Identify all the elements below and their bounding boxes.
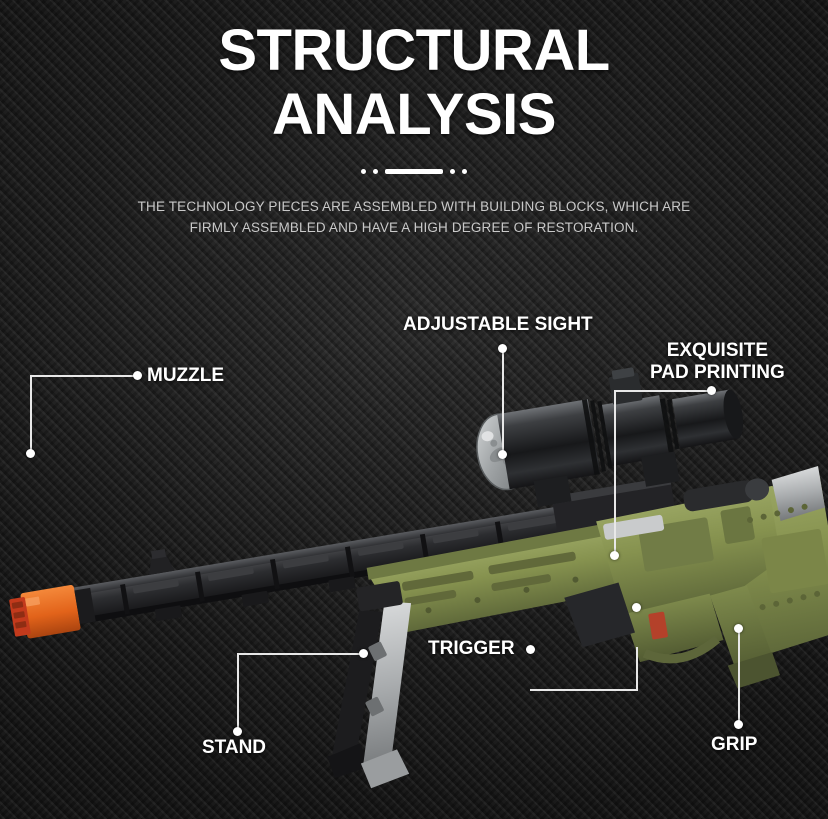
leader-node-pad-printing-label — [707, 386, 716, 395]
header-block: STRUCTURAL ANALYSIS THE TECHNOLOGY PIECE… — [0, 22, 828, 238]
leader-node-grip-label — [734, 720, 743, 729]
leader-node-trigger-target — [632, 603, 641, 612]
leader-node-stand-label — [233, 727, 242, 736]
leader-line-grip — [738, 628, 741, 724]
callout-label-adjustable-sight: ADJUSTABLE SIGHT — [403, 314, 593, 336]
divider-dot-left-outer — [361, 169, 366, 174]
callout-label-trigger: TRIGGER — [428, 638, 515, 660]
callout-label-stand: STAND — [202, 737, 266, 759]
callout-label-grip: GRIP — [711, 734, 757, 756]
leader-node-muzzle-target — [26, 449, 35, 458]
leader-node-stand-target — [359, 649, 368, 658]
subtitle-line-1: THE TECHNOLOGY PIECES ARE ASSEMBLED WITH… — [0, 196, 828, 217]
page-title-line-1: STRUCTURAL — [0, 22, 828, 80]
trigger-part — [648, 611, 668, 639]
muzzle-part — [8, 582, 96, 641]
callout-label-pad-printing: EXQUISITE PAD PRINTING — [650, 340, 785, 384]
leader-node-trigger-label — [526, 645, 535, 654]
leader-node-sight-label — [498, 344, 507, 353]
bipod-stand — [301, 579, 441, 794]
page-title-line-2: ANALYSIS — [0, 86, 828, 144]
divider-dot-left-inner — [373, 169, 378, 174]
receiver-body — [362, 466, 828, 745]
title-divider — [334, 166, 494, 176]
divider-dot-right-outer — [462, 169, 467, 174]
subtitle-block: THE TECHNOLOGY PIECES ARE ASSEMBLED WITH… — [0, 196, 828, 238]
divider-bar — [385, 169, 443, 174]
leader-line-trigger — [530, 647, 640, 691]
callout-label-muzzle: MUZZLE — [147, 365, 224, 387]
leader-node-grip-target — [734, 624, 743, 633]
subtitle-line-2: FIRMLY ASSEMBLED AND HAVE A HIGH DEGREE … — [0, 217, 828, 238]
barrel-assembly — [44, 465, 679, 638]
leader-node-muzzle-label — [133, 371, 142, 380]
leader-node-sight-target — [498, 450, 507, 459]
leader-node-pad-printing-target — [610, 551, 619, 560]
leader-line-muzzle — [30, 375, 140, 455]
leader-line-sight — [502, 348, 505, 454]
infographic-page: STRUCTURAL ANALYSIS THE TECHNOLOGY PIECE… — [0, 0, 828, 819]
divider-dot-right-inner — [450, 169, 455, 174]
leader-line-stand — [237, 653, 367, 731]
leader-line-pad-printing — [614, 390, 714, 556]
